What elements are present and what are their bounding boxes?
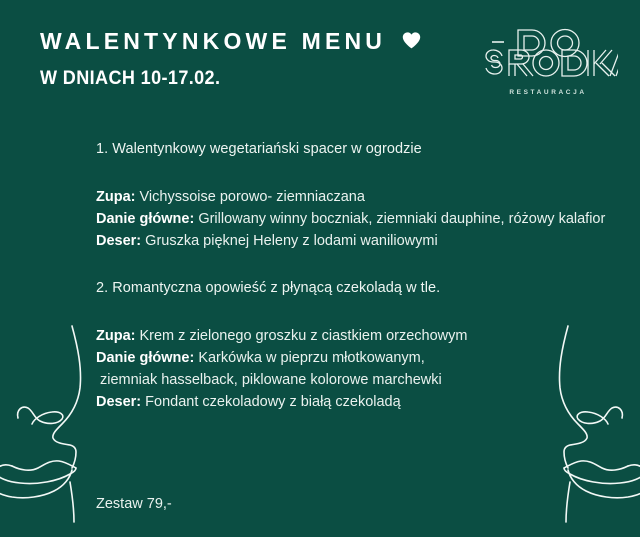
price-label: Zestaw 79,-	[96, 496, 172, 512]
menu-body: 1. Walentynkowy wegetariański spacer w o…	[96, 140, 606, 413]
course-line: Zupa: Krem z zielonego groszku z ciastki…	[96, 325, 606, 347]
course-label: Danie główne:	[96, 211, 194, 227]
course-line: Deser: Gruszka pięknej Heleny z lodami w…	[96, 230, 606, 252]
date-range: W DNIACH 10-17.02.	[40, 68, 439, 90]
course-line: Deser: Fondant czekoladowy z białą czeko…	[96, 391, 606, 413]
course-label: Danie główne:	[96, 350, 194, 366]
course-label: Deser:	[96, 394, 141, 410]
course-line-continued: ziemniak hasselback, piklowane kolorowe …	[96, 369, 606, 391]
course-text: Vichyssoise porowo- ziemniaczana	[135, 189, 364, 205]
brand-logo: RESTAURACJA	[478, 26, 618, 102]
course-line: Danie główne: Grillowany winny boczniak,…	[96, 208, 606, 230]
menu-section: 2. Romantyczna opowieść z płynącą czekol…	[96, 279, 606, 413]
course-text: Karkówka w pieprzu młotkowanym,	[194, 350, 424, 366]
face-profile-left-icon	[0, 326, 81, 522]
poster-canvas: WALENTYNKOWE MENU W DNIACH 10-17.02.	[0, 0, 640, 537]
course-line: Danie główne: Karkówka w pieprzu młotkow…	[96, 347, 606, 369]
course-text: Grillowany winny boczniak, ziemniaki dau…	[194, 211, 605, 227]
header: WALENTYNKOWE MENU W DNIACH 10-17.02.	[40, 30, 460, 90]
section-spacer	[96, 252, 606, 279]
course-text: Gruszka pięknej Heleny z lodami waniliow…	[141, 233, 438, 249]
section-heading: 2. Romantyczna opowieść z płynącą czekol…	[96, 279, 606, 297]
menu-section: 1. Walentynkowy wegetariański spacer w o…	[96, 140, 606, 252]
course-label: Deser:	[96, 233, 141, 249]
course-line: Zupa: Vichyssoise porowo- ziemniaczana	[96, 186, 606, 208]
course-text: Krem z zielonego groszku z ciastkiem orz…	[135, 328, 467, 344]
logo-caption: RESTAURACJA	[478, 89, 618, 96]
section-heading: 1. Walentynkowy wegetariański spacer w o…	[96, 140, 606, 158]
page-title: WALENTYNKOWE MENU	[40, 30, 386, 53]
course-label: Zupa:	[96, 189, 135, 205]
course-text: Fondant czekoladowy z białą czekoladą	[141, 394, 401, 410]
heart-icon	[402, 31, 421, 50]
logo-mark	[478, 26, 618, 88]
course-label: Zupa:	[96, 328, 135, 344]
course-text: ziemniak hasselback, piklowane kolorowe …	[100, 372, 442, 388]
title-row: WALENTYNKOWE MENU	[40, 30, 460, 53]
